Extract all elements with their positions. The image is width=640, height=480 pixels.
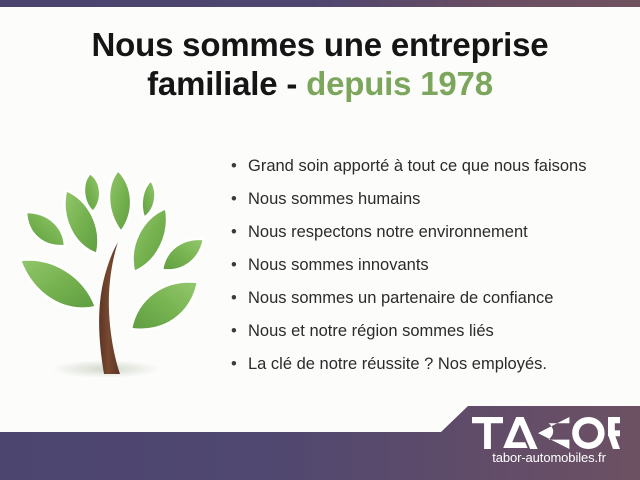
page-title-line-1: Nous sommes une entreprise (0, 26, 640, 65)
bullet-marker-icon: • (231, 315, 237, 348)
list-item: • La clé de notre réussite ? Nos employé… (231, 348, 631, 381)
logo-wordmark (472, 417, 620, 449)
tree-leaf (26, 212, 65, 246)
bullet-marker-icon: • (231, 249, 237, 282)
list-item: • Nous respectons notre environnement (231, 216, 631, 249)
page-title-line-2-plain: familiale - (147, 65, 306, 102)
bullet-marker-icon: • (231, 150, 237, 183)
list-item-label: Nous sommes un partenaire de confiance (248, 289, 553, 307)
tree-leaf (162, 239, 204, 271)
list-item-label: Nous sommes innovants (248, 256, 429, 274)
page-title-line-2: familiale - depuis 1978 (0, 65, 640, 104)
list-item: • Nous sommes un partenaire de confiance (231, 282, 631, 315)
list-item: • Grand soin apporté à tout ce que nous … (231, 150, 631, 183)
company-logo[interactable]: tabor-automobiles.fr (472, 417, 624, 473)
bullet-marker-icon: • (231, 183, 237, 216)
tree-illustration (8, 142, 213, 390)
bullet-marker-icon: • (231, 216, 237, 249)
list-item: • Nous sommes innovants (231, 249, 631, 282)
list-item-label: Nous et notre région sommes liés (248, 322, 494, 340)
tree-leaf (142, 180, 156, 218)
list-item-label: Nous sommes humains (248, 190, 420, 208)
tree-leaf (133, 208, 168, 272)
slide-canvas: Nous sommes une entreprise familiale - d… (0, 0, 640, 480)
logo-url-text: tabor-automobiles.fr (475, 450, 623, 465)
list-item-label: Nous respectons notre environnement (248, 223, 528, 241)
value-proposition-list: • Grand soin apporté à tout ce que nous … (231, 150, 631, 381)
top-accent-strip (0, 0, 640, 7)
page-title: Nous sommes une entreprise familiale - d… (0, 26, 640, 103)
list-item: • Nous et notre région sommes liés (231, 315, 631, 348)
tree-leaf (109, 170, 131, 232)
list-item-label: La clé de notre réussite ? Nos employés. (248, 355, 547, 373)
page-title-accent: depuis 1978 (306, 65, 493, 102)
bullet-marker-icon: • (231, 348, 237, 381)
bullet-marker-icon: • (231, 282, 237, 315)
tree-leaf (131, 281, 198, 329)
list-item-label: Grand soin apporté à tout ce que nous fa… (248, 157, 586, 175)
tree-leaf (20, 259, 96, 308)
list-item: • Nous sommes humains (231, 183, 631, 216)
footer-bar: tabor-automobiles.fr (0, 404, 640, 480)
tree-trunk (99, 242, 120, 374)
